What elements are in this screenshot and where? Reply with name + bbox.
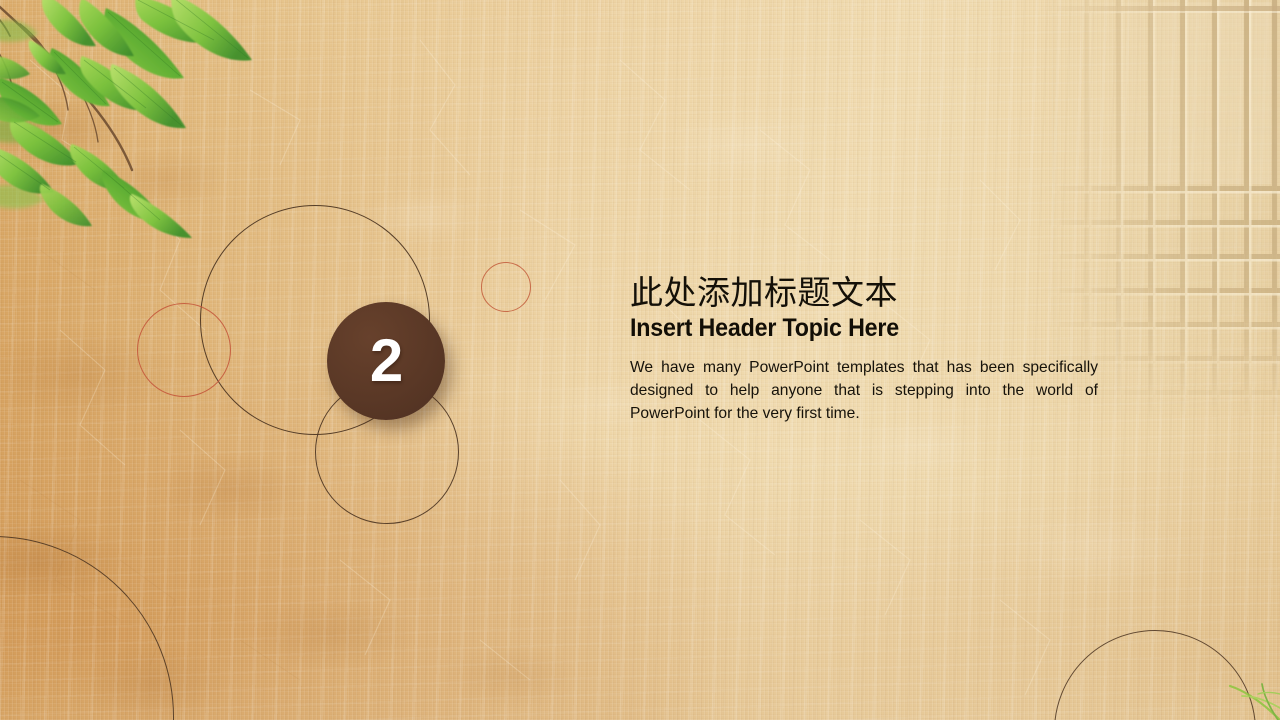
slide-text-block: 此处添加标题文本 Insert Header Topic Here We hav… bbox=[630, 275, 1110, 425]
presentation-slide: 2 此处添加标题文本 Insert Header Topic Here We h… bbox=[0, 0, 1280, 720]
slide-title-chinese: 此处添加标题文本 bbox=[630, 275, 1110, 311]
bamboo-leaves-icon bbox=[0, 0, 256, 239]
slide-number-badge: 2 bbox=[327, 302, 445, 420]
decorative-circle-red-left bbox=[137, 303, 231, 397]
slide-body-text: We have many PowerPoint templates that h… bbox=[630, 356, 1098, 425]
slide-title-english: Insert Header Topic Here bbox=[630, 314, 1076, 343]
decorative-circle-red-small bbox=[481, 262, 531, 312]
slide-number-text: 2 bbox=[370, 331, 402, 391]
grass-sprig-icon bbox=[1160, 630, 1280, 720]
